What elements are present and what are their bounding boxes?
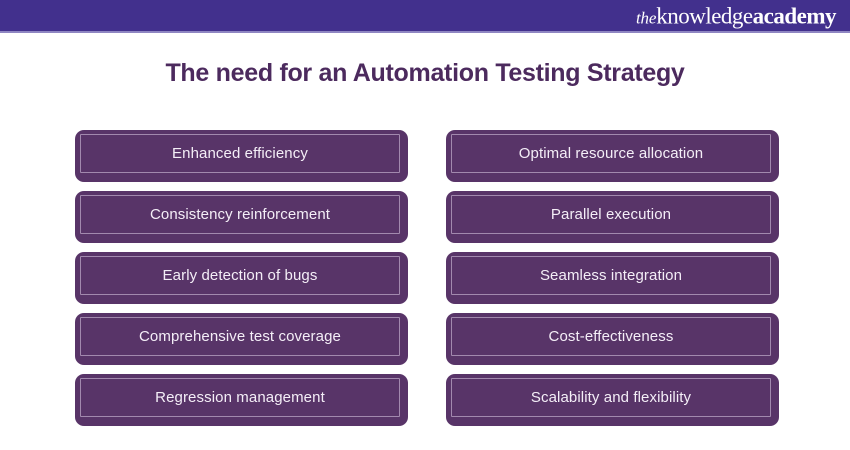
benefit-item-label: Parallel execution	[451, 195, 771, 234]
benefit-item[interactable]: Comprehensive test coverage	[75, 313, 408, 365]
benefit-item[interactable]: Scalability and flexibility	[446, 374, 779, 426]
brand-academy-text: academy	[753, 3, 836, 28]
benefits-columns: Enhanced efficiency Consistency reinforc…	[0, 130, 850, 426]
benefits-column-left: Enhanced efficiency Consistency reinforc…	[75, 130, 408, 426]
benefits-column-right: Optimal resource allocation Parallel exe…	[446, 130, 779, 426]
benefit-item[interactable]: Cost-effectiveness	[446, 313, 779, 365]
benefit-item[interactable]: Enhanced efficiency	[75, 130, 408, 182]
benefit-item[interactable]: Consistency reinforcement	[75, 191, 408, 243]
benefit-item[interactable]: Regression management	[75, 374, 408, 426]
benefit-item-label: Comprehensive test coverage	[80, 317, 400, 356]
brand-the-text: the	[636, 8, 656, 27]
benefit-item-label: Early detection of bugs	[80, 256, 400, 295]
header-underline-divider	[0, 31, 850, 33]
header-bar: theknowledgeacademy	[0, 0, 850, 31]
brand-logo[interactable]: theknowledgeacademy	[636, 4, 836, 27]
page-title: The need for an Automation Testing Strat…	[0, 59, 850, 88]
benefit-item[interactable]: Early detection of bugs	[75, 252, 408, 304]
benefit-item-label: Scalability and flexibility	[451, 378, 771, 417]
benefit-item[interactable]: Seamless integration	[446, 252, 779, 304]
benefit-item-label: Regression management	[80, 378, 400, 417]
benefit-item-label: Consistency reinforcement	[80, 195, 400, 234]
benefit-item-label: Optimal resource allocation	[451, 134, 771, 173]
benefit-item[interactable]: Parallel execution	[446, 191, 779, 243]
benefit-item-label: Enhanced efficiency	[80, 134, 400, 173]
benefit-item[interactable]: Optimal resource allocation	[446, 130, 779, 182]
benefit-item-label: Seamless integration	[451, 256, 771, 295]
benefit-item-label: Cost-effectiveness	[451, 317, 771, 356]
brand-knowledge-text: knowledge	[656, 3, 752, 28]
